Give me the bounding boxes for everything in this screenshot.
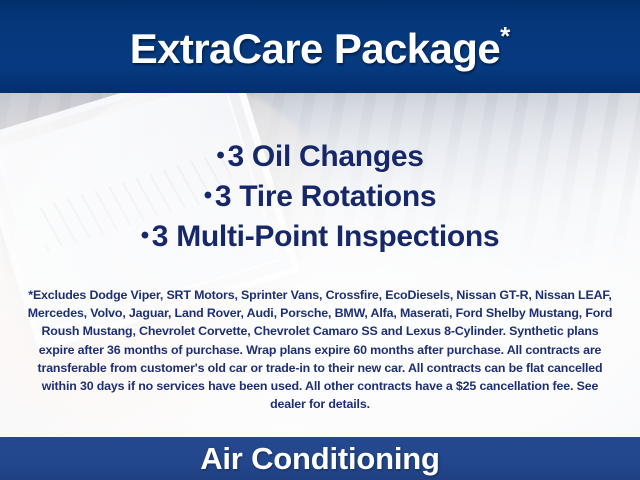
footer-banner: Air Conditioning [0, 437, 640, 480]
extracare-package-ad: ExtraCare Package* •3 Oil Changes •3 Tir… [0, 0, 640, 480]
disclaimer-text: *Excludes Dodge Viper, SRT Motors, Sprin… [24, 286, 616, 413]
list-item-label: 3 Oil Changes [227, 140, 423, 173]
list-item: •3 Multi-Point Inspections [0, 216, 640, 256]
feature-list: •3 Oil Changes •3 Tire Rotations •3 Mult… [0, 136, 640, 256]
list-item-label: 3 Tire Rotations [215, 180, 436, 213]
title-asterisk: * [500, 21, 510, 51]
list-item: •3 Tire Rotations [0, 176, 640, 216]
header-banner: ExtraCare Package* [0, 0, 640, 93]
bullet-dot-icon: • [216, 142, 227, 169]
list-item: •3 Oil Changes [0, 136, 640, 176]
footer-title: Air Conditioning [200, 443, 440, 474]
list-item-label: 3 Multi-Point Inspections [152, 220, 500, 253]
page-title-text: ExtraCare Package [130, 25, 500, 72]
bullet-dot-icon: • [141, 222, 152, 249]
bullet-dot-icon: • [204, 182, 215, 209]
page-title: ExtraCare Package* [130, 23, 511, 70]
